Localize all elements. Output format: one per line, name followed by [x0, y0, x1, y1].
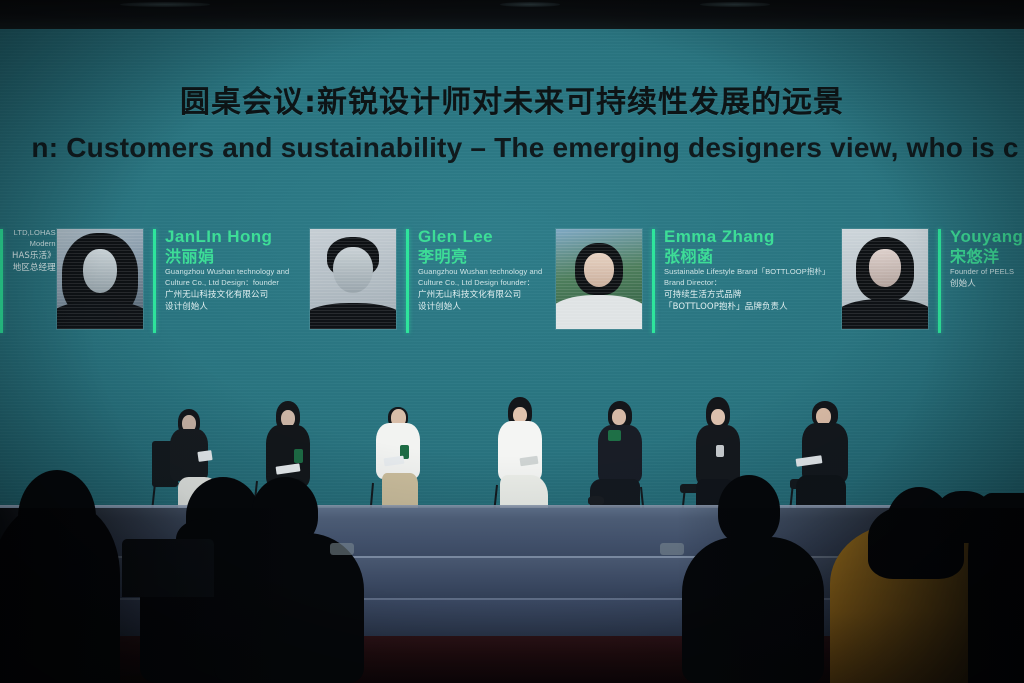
speaker-headshot	[57, 229, 143, 329]
ceiling-dark-band	[0, 0, 1024, 29]
speaker-cards-row: LTD,LOHAS Modern HAS乐活》 地区总经理 JanLIn H	[0, 225, 1024, 341]
speaker-role-line: Guangzhou Wushan technology and	[418, 267, 542, 278]
audience-member-4-body	[682, 537, 824, 683]
speaker-info: Glen Lee 李明亮 Guangzhou Wushan technology…	[418, 225, 542, 313]
speaker-info: LTD,LOHAS Modern HAS乐活》 地区总经理	[12, 225, 56, 274]
speaker-accent-bar	[938, 229, 941, 333]
speaker-role-line: 设计创始人	[418, 301, 542, 313]
speaker-name-en: Youyang	[950, 227, 1023, 246]
speaker-name-cn: 李明亮	[418, 247, 542, 267]
speaker-role-line: HAS乐活》	[12, 250, 56, 262]
speaker-info: JanLIn Hong 洪丽娟 Guangzhou Wushan technol…	[165, 225, 289, 313]
led-presentation-screen: 圆桌会议:新锐设计师对未来可持续性发展的远景 n: Customers and …	[0, 29, 1024, 516]
speaker-role-line: 地区总经理	[12, 262, 56, 274]
speaker-role-line: Founder of PEELS	[950, 267, 1023, 278]
speaker-info: Emma Zhang 张栩菡 Sustainable Lifestyle Bra…	[664, 225, 830, 313]
speaker-role-line: 设计创始人	[165, 301, 289, 313]
speaker-role-line: 可持续生活方式品牌	[664, 289, 830, 301]
speaker-role-line: LTD,LOHAS	[12, 228, 56, 239]
speaker-accent-bar	[652, 229, 655, 333]
seat-top-highlight-right	[660, 543, 684, 555]
headline-chinese: 圆桌会议:新锐设计师对未来可持续性发展的远景	[0, 77, 1024, 121]
speaker-card-emma-zhang: Emma Zhang 张栩菡 Sustainable Lifestyle Bra…	[556, 225, 830, 341]
speaker-accent-bar	[406, 229, 409, 333]
speaker-headshot	[556, 229, 642, 329]
speaker-accent-bar	[0, 229, 3, 333]
speaker-card-clipped-left: LTD,LOHAS Modern HAS乐活》 地区总经理	[0, 225, 56, 341]
speaker-name-cn: 洪丽娟	[165, 247, 289, 267]
audience-member-3-body	[214, 533, 364, 683]
speaker-name-cn: 宋悠洋	[950, 247, 1023, 267]
speaker-accent-bar	[153, 229, 156, 333]
speaker-role-line: Culture Co., Ltd Design：founder	[165, 278, 289, 289]
speaker-role-line: Guangzhou Wushan technology and	[165, 267, 289, 278]
speaker-role-line: Modern	[12, 239, 56, 250]
speaker-name-cn: 张栩菡	[664, 247, 830, 267]
speaker-card-glen-lee: Glen Lee 李明亮 Guangzhou Wushan technology…	[310, 225, 542, 341]
speaker-card-janlin-hong: JanLIn Hong 洪丽娟 Guangzhou Wushan technol…	[57, 225, 289, 341]
speaker-headshot	[842, 229, 928, 329]
audience-member-4-head	[718, 475, 780, 545]
speaker-name-en: Emma Zhang	[664, 227, 830, 246]
headline-english: n: Customers and sustainability – The em…	[0, 132, 1024, 164]
speaker-role-line: 创始人	[950, 278, 1023, 290]
conference-stage-photo: 圆桌会议:新锐设计师对未来可持续性发展的远景 n: Customers and …	[0, 0, 1024, 683]
speaker-name-en: Glen Lee	[418, 227, 542, 246]
speaker-role-line: 「BOTTLOOP抱朴」品牌负责人	[664, 301, 830, 313]
audience-member-6	[968, 493, 1024, 683]
speaker-role-line: Culture Co., Ltd Design founder：	[418, 278, 542, 289]
speaker-role-line: Brand Director：	[664, 278, 830, 289]
speaker-headshot	[310, 229, 396, 329]
speaker-role-line: 广州无山科技文化有限公司	[418, 289, 542, 301]
speaker-role-line: Sustainable Lifestyle Brand「BOTTLOOP抱朴」	[664, 267, 830, 278]
speaker-info: Youyang 宋悠洋 Founder of PEELS 创始人	[950, 225, 1023, 290]
speaker-role-line: 广州无山科技文化有限公司	[165, 289, 289, 301]
speaker-name-en: JanLIn Hong	[165, 227, 289, 246]
empty-seat-back-left	[122, 539, 214, 597]
speaker-card-youyang-song: Youyang 宋悠洋 Founder of PEELS 创始人	[842, 225, 1023, 341]
seat-top-highlight-left	[330, 543, 354, 555]
